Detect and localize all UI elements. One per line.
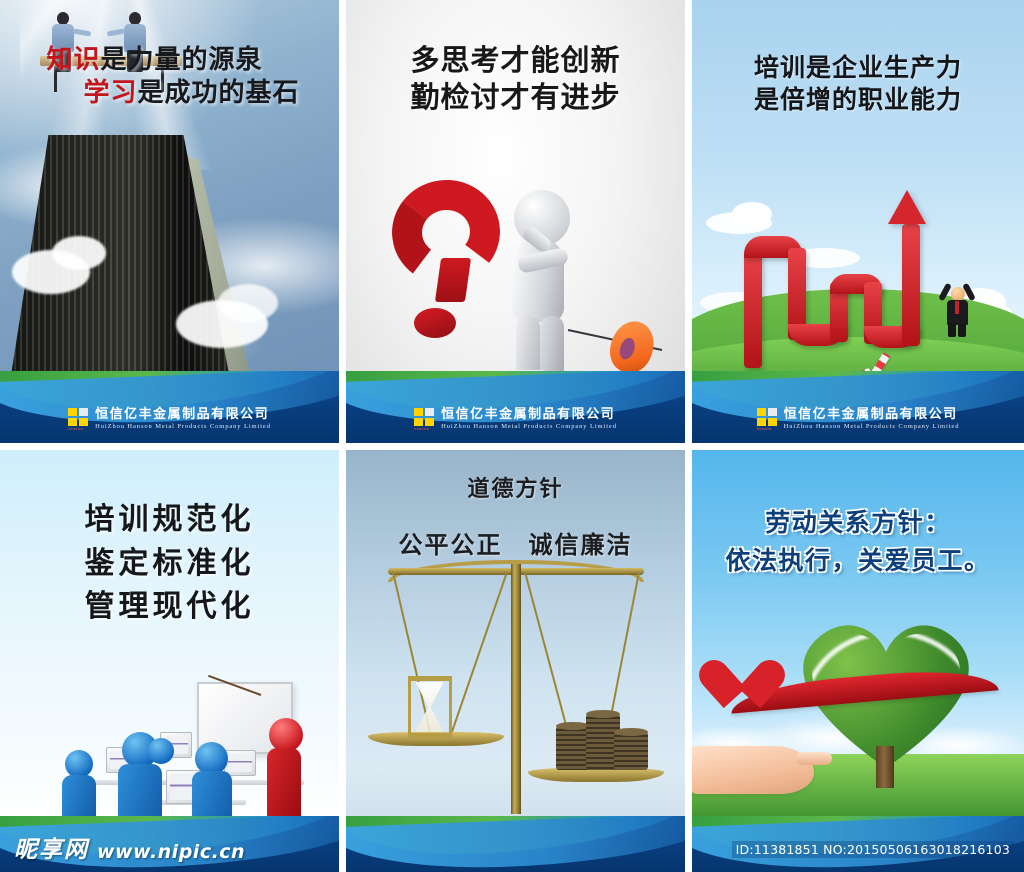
company-name-block: 恒信亿丰金属制品有限公司 HuiZhou Hanson Metal Produc… [95, 408, 271, 430]
growth-arrow [744, 206, 954, 371]
company-name-en: HuiZhou Hanson Metal Products Company Li… [95, 424, 271, 431]
company-signature: HANSON 恒信亿丰金属制品有限公司 HuiZhou Hanson Metal… [692, 408, 1024, 431]
title-highlight: 知识 [46, 45, 100, 75]
title-line: 培训是企业生产力 [692, 52, 1024, 84]
panel-gutter [339, 450, 346, 872]
panel-5-title: 公平公正 诚信廉洁 [346, 530, 685, 561]
cloud-puff [52, 236, 106, 270]
nib [604, 316, 660, 378]
scale-string [450, 572, 507, 733]
company-logo: HANSON [757, 408, 777, 431]
panel-5-heading: 道德方针 [346, 476, 685, 504]
panel-standardized-training: 培训规范化 鉴定标准化 管理现代化 昵享网 www.nipic.cn [0, 450, 339, 872]
company-name-cn: 恒信亿丰金属制品有限公司 [95, 408, 271, 422]
panel-1-title: 知识是力量的源泉 学习是成功的基石 [0, 44, 339, 111]
head [269, 718, 303, 752]
logo-squares-icon [68, 408, 88, 426]
panel-gutter [339, 0, 346, 443]
logo-subtext: HANSON [414, 427, 429, 431]
company-logo: HANSON [414, 408, 434, 431]
panel-footer: HANSON 恒信亿丰金属制品有限公司 HuiZhou Hanson Metal… [346, 371, 685, 443]
arrow-stroke [744, 250, 762, 368]
coin-stack [614, 732, 648, 770]
logo-squares-icon [757, 408, 777, 426]
coin-stacks [552, 708, 648, 770]
head [148, 738, 174, 764]
necktie [955, 301, 959, 314]
open-hand [692, 746, 814, 794]
thinking-figure [496, 190, 582, 380]
logo-squares-icon [414, 408, 434, 426]
student-figure [148, 738, 178, 780]
watermark-url: www.nipic.cn [97, 841, 245, 864]
title-line: 鉴定标准化 [0, 542, 339, 586]
blue-swoosh [346, 816, 685, 872]
panel-3-title: 培训是企业生产力 是倍增的职业能力 [692, 52, 1024, 116]
arrow-head-icon [888, 190, 926, 224]
title-line: 劳动关系方针： [692, 504, 1024, 542]
panel-footer: HANSON 恒信亿丰金属制品有限公司 HuiZhou Hanson Metal… [0, 371, 339, 443]
watermark-brand: 昵享网 [14, 830, 89, 864]
hourglass [408, 676, 452, 738]
panel-gutter [685, 0, 692, 443]
scale-pan-right [528, 768, 664, 782]
logo-subtext: HANSON [757, 427, 772, 431]
row-gutter [0, 443, 1024, 450]
panel-footer [346, 816, 685, 872]
title-line: 培训规范化 [0, 498, 339, 542]
leg-right [958, 323, 966, 337]
company-signature: HANSON 恒信亿丰金属制品有限公司 HuiZhou Hanson Metal… [346, 408, 685, 431]
coin-stack [556, 726, 590, 770]
panel-training-productivity: 培训是企业生产力 是倍增的职业能力 HANSON 恒信亿丰金属制品有限公司 Hu… [692, 0, 1024, 443]
watermark: 昵享网 www.nipic.cn [14, 830, 245, 864]
panel-think-more-innovate: 多思考才能创新 勤检讨才有进步 HANSON 恒信亿丰金属制品有限公司 HuiZ… [346, 0, 685, 443]
scale-post [511, 564, 521, 814]
instructor-figure [265, 718, 305, 830]
red-ribbon [702, 630, 1002, 722]
title-highlight: 学习 [83, 78, 137, 108]
company-name-block: 恒信亿丰金属制品有限公司 HuiZhou Hanson Metal Produc… [784, 408, 960, 430]
panel-2-title: 多思考才能创新 勤检讨才有进步 [346, 42, 685, 116]
poster-board: 知识是力量的源泉 学习是成功的基石 HANSON 恒信亿丰金属制品有限公司 Hu… [0, 0, 1024, 872]
company-name-block: 恒信亿丰金属制品有限公司 HuiZhou Hanson Metal Produc… [441, 408, 617, 430]
panel-gutter [685, 450, 692, 872]
hourglass-bottom [408, 733, 452, 738]
company-signature: HANSON 恒信亿丰金属制品有限公司 HuiZhou Hanson Metal… [0, 408, 339, 431]
title-line: 依法执行，关爱员工。 [692, 542, 1024, 580]
hourglass-top [408, 676, 452, 681]
logo-subtext: HANSON [68, 427, 83, 431]
cloud-puff [218, 284, 278, 322]
company-name-cn: 恒信亿丰金属制品有限公司 [784, 408, 960, 422]
title-line: 勤检讨才有进步 [346, 79, 685, 116]
panel-footer: HANSON 恒信亿丰金属制品有限公司 HuiZhou Hanson Metal… [692, 371, 1024, 443]
celebrating-businessman [942, 281, 972, 337]
title-normal: 是成功的基石 [138, 78, 300, 108]
question-tail [435, 258, 471, 302]
company-name-en: HuiZhou Hanson Metal Products Company Li… [784, 424, 960, 431]
panel-knowledge-is-power: 知识是力量的源泉 学习是成功的基石 HANSON 恒信亿丰金属制品有限公司 Hu… [0, 0, 339, 443]
title-line: 是倍增的职业能力 [692, 84, 1024, 116]
company-name-cn: 恒信亿丰金属制品有限公司 [441, 408, 617, 422]
panel-4-title: 培训规范化 鉴定标准化 管理现代化 [0, 498, 339, 629]
title-line: 多思考才能创新 [346, 42, 685, 79]
ribbon-heart-icon [716, 642, 772, 690]
panel-labor-relations: 劳动关系方针： 依法执行，关爱员工。 ID:11381851 NO:201505… [692, 450, 1024, 872]
balance-scale [366, 556, 666, 846]
leg-left [948, 323, 956, 337]
arrow-stroke [902, 224, 920, 346]
company-logo: HANSON [68, 408, 88, 431]
head [951, 287, 965, 301]
panel-moral-policy: 道德方针 公平公正 诚信廉洁 [346, 450, 685, 872]
tree-trunk [876, 746, 894, 788]
image-id-tag: ID:11381851 NO:20150506163018216103 [732, 841, 1014, 858]
title-normal: 是力量的源泉 [101, 45, 263, 75]
company-name-en: HuiZhou Hanson Metal Products Company Li… [441, 424, 617, 431]
panel-6-title: 劳动关系方针： 依法执行，关爱员工。 [692, 504, 1024, 579]
question-dot [414, 308, 456, 338]
title-line: 管理现代化 [0, 585, 339, 629]
head [65, 750, 93, 778]
